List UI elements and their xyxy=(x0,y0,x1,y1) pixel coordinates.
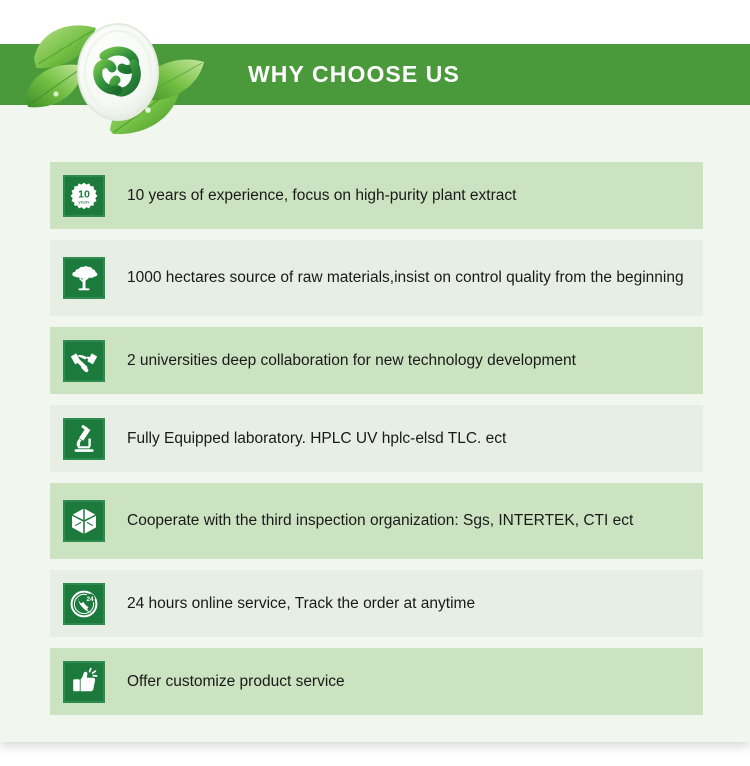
list-item-text: 24 hours online service, Track the order… xyxy=(127,593,703,615)
list-item-text: Cooperate with the third inspection orga… xyxy=(127,510,703,532)
list-item[interactable]: 10 years 10 years of experience, focus o… xyxy=(50,162,703,229)
content-card: WHY CHOOSE US xyxy=(0,0,750,742)
list-item-text: 10 years of experience, focus on high-pu… xyxy=(127,185,703,207)
cube-box-icon xyxy=(63,500,105,542)
list-item[interactable]: 24 24 hours online service, Track the or… xyxy=(50,570,703,637)
list-item[interactable]: Offer customize product service xyxy=(50,648,703,715)
handshake-icon xyxy=(63,340,105,382)
leaf-mid-left xyxy=(26,65,84,108)
circular-logo xyxy=(78,24,158,120)
10-years-badge-icon: 10 years xyxy=(63,175,105,217)
list-item-text: 1000 hectares source of raw materials,in… xyxy=(127,267,703,289)
list-item-text: 2 universities deep collaboration for ne… xyxy=(127,350,703,372)
why-choose-us-page: WHY CHOOSE US xyxy=(0,0,750,766)
list-item-text: Offer customize product service xyxy=(127,671,703,693)
feature-list: 10 years 10 years of experience, focus o… xyxy=(50,162,703,726)
thumbs-up-icon xyxy=(63,661,105,703)
list-item[interactable]: Cooperate with the third inspection orga… xyxy=(50,483,703,559)
page-title: WHY CHOOSE US xyxy=(248,44,460,105)
badge-sublabel: years xyxy=(78,199,90,204)
leaf-logo-emblem xyxy=(18,12,233,137)
tree-icon xyxy=(63,257,105,299)
clock-hours-label: 24 xyxy=(86,596,94,603)
list-item[interactable]: 2 universities deep collaboration for ne… xyxy=(50,327,703,394)
list-item[interactable]: 1000 hectares source of raw materials,in… xyxy=(50,240,703,316)
list-item-text: Fully Equipped laboratory. HPLC UV hplc-… xyxy=(127,428,703,450)
24-hours-clock-phone-icon: 24 xyxy=(63,583,105,625)
microscope-icon xyxy=(63,418,105,460)
list-item[interactable]: Fully Equipped laboratory. HPLC UV hplc-… xyxy=(50,405,703,472)
